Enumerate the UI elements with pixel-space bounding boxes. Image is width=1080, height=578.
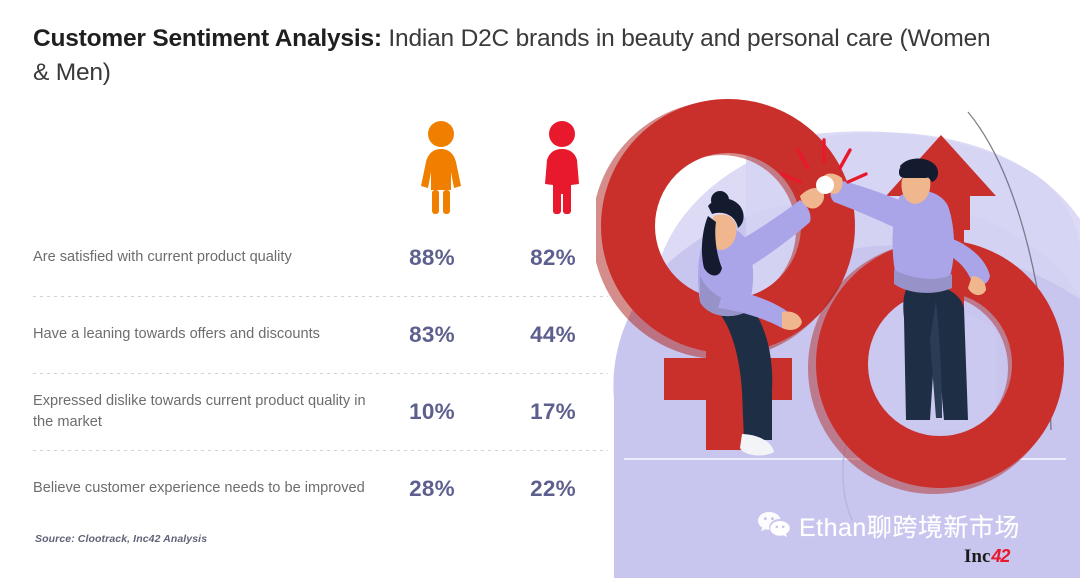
table-row: Have a leaning towards offers and discou… — [33, 297, 608, 373]
men-value: 82% — [512, 245, 594, 271]
table-row: Expressed dislike towards current produc… — [33, 374, 608, 450]
title-bold: Customer Sentiment Analysis: — [33, 25, 382, 52]
women-value: 10% — [391, 399, 473, 425]
women-value: 83% — [391, 322, 473, 348]
row-label: Are satisfied with current product quali… — [33, 247, 391, 268]
row-label: Expressed dislike towards current produc… — [33, 391, 391, 433]
table-row: Believe customer experience needs to be … — [33, 451, 608, 527]
wechat-icon — [757, 510, 791, 543]
row-label: Believe customer experience needs to be … — [33, 478, 391, 499]
women-value: 28% — [391, 476, 473, 502]
inc42-word: Inc — [964, 546, 990, 568]
men-value: 17% — [512, 399, 594, 425]
wechat-watermark: Ethan聊跨境新市场 — [757, 508, 1020, 544]
gender-symbols-high-five-illustration — [596, 0, 1080, 578]
men-value: 22% — [512, 476, 594, 502]
table-row: Are satisfied with current product quali… — [33, 220, 608, 296]
inc42-number: 42 — [991, 546, 1009, 567]
source-note: Source: Clootrack, Inc42 Analysis — [35, 533, 207, 545]
table-header — [33, 110, 608, 220]
sentiment-table: Are satisfied with current product quali… — [33, 110, 608, 527]
women-value: 88% — [391, 245, 473, 271]
men-value: 44% — [512, 322, 594, 348]
female-figure-icon — [401, 120, 481, 220]
inc42-logo: Inc 42 — [964, 546, 1009, 568]
male-figure-icon — [522, 120, 602, 220]
row-label: Have a leaning towards offers and discou… — [33, 324, 391, 345]
watermark-text: Ethan聊跨境新市场 — [799, 508, 1020, 544]
infographic-canvas: Customer Sentiment Analysis: Indian D2C … — [0, 0, 1080, 578]
